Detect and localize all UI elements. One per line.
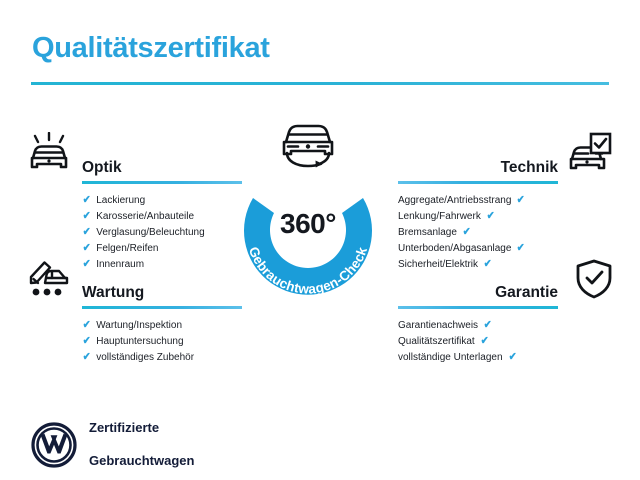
check-icon: ✔ bbox=[83, 211, 91, 222]
check-icon: ✔ bbox=[517, 195, 525, 206]
section-optik-divider bbox=[82, 181, 242, 184]
car-checkbox-icon bbox=[566, 132, 612, 174]
list-item: ✔ Garantienachweis bbox=[398, 318, 558, 334]
section-optik: Optik ✔ Lackierung ✔ Karosserie/Anbautei… bbox=[82, 145, 242, 273]
check-icon: ✔ bbox=[487, 211, 495, 222]
list-item-label: vollständiges Zubehör bbox=[96, 353, 194, 363]
list-item: ✔ Qualitätszertifikat bbox=[398, 334, 558, 350]
list-item-label: Verglasung/Beleuchtung bbox=[96, 228, 204, 238]
section-garantie-divider bbox=[398, 306, 558, 309]
footer-brand-line1: Zertifizierte bbox=[89, 420, 194, 436]
list-item-label: Aggregate/Antriebsstrang bbox=[398, 196, 511, 206]
list-item-label: Bremsanlage bbox=[398, 228, 457, 238]
list-item: ✔ Lenkung/Fahrwerk bbox=[398, 209, 558, 225]
list-item-label: Felgen/Reifen bbox=[96, 244, 158, 254]
section-technik-divider bbox=[398, 181, 558, 184]
section-wartung: Wartung ✔ Wartung/Inspektion ✔ Hauptunte… bbox=[82, 270, 242, 366]
list-item-label: vollständige Unterlagen bbox=[398, 353, 503, 363]
footer-brand-line2: Gebrauchtwagen bbox=[89, 453, 194, 469]
check-icon: ✔ bbox=[83, 259, 91, 270]
list-item: ✔ Aggregate/Antriebsstrang bbox=[398, 193, 558, 209]
check-icon: ✔ bbox=[83, 336, 91, 347]
list-item: ✔ Lackierung bbox=[82, 193, 242, 209]
badge-degrees-label: 360° bbox=[228, 208, 388, 240]
volkswagen-logo-icon bbox=[31, 422, 77, 468]
section-optik-head: Optik bbox=[82, 145, 242, 175]
quality-certificate-page: Qualitätszertifikat bbox=[0, 0, 640, 480]
list-item: ✔ vollständige Unterlagen bbox=[398, 350, 558, 366]
list-item-label: Qualitätszertifikat bbox=[398, 337, 475, 347]
list-item: ✔ Wartung/Inspektion bbox=[82, 318, 242, 334]
section-optik-title: Optik bbox=[82, 160, 122, 176]
section-technik: Technik ✔ Aggregate/Antriebsstrang ✔ Len… bbox=[398, 145, 558, 273]
section-garantie-title: Garantie bbox=[495, 285, 558, 301]
list-item: ✔ Felgen/Reifen bbox=[82, 241, 242, 257]
check-icon: ✔ bbox=[484, 259, 492, 270]
section-technik-title: Technik bbox=[501, 160, 558, 176]
list-item: ✔ Hauptuntersuchung bbox=[82, 334, 242, 350]
check-icon: ✔ bbox=[517, 243, 525, 254]
badge-360-gebrauchtwagen-check: Gebrauchtwagen-Check 360° bbox=[228, 152, 388, 312]
check-icon: ✔ bbox=[508, 352, 516, 363]
check-icon: ✔ bbox=[83, 320, 91, 331]
section-wartung-list: ✔ Wartung/Inspektion ✔ Hauptuntersuchung… bbox=[82, 318, 242, 366]
check-icon: ✔ bbox=[480, 336, 488, 347]
section-garantie-head: Garantie bbox=[398, 270, 558, 300]
section-technik-list: ✔ Aggregate/Antriebsstrang ✔ Lenkung/Fah… bbox=[398, 193, 558, 273]
footer-brand-text: Zertifizierte Gebrauchtwagen bbox=[89, 404, 194, 480]
section-garantie: Garantie ✔ Garantienachweis ✔ Qualitätsz… bbox=[398, 270, 558, 366]
car-service-pen-icon bbox=[26, 256, 72, 298]
list-item-label: Wartung/Inspektion bbox=[96, 321, 182, 331]
check-icon: ✔ bbox=[83, 352, 91, 363]
list-item-label: Hauptuntersuchung bbox=[96, 337, 183, 347]
list-item-label: Lackierung bbox=[96, 196, 145, 206]
list-item-label: Karosserie/Anbauteile bbox=[96, 212, 194, 222]
page-title: Qualitätszertifikat bbox=[32, 32, 270, 65]
list-item-label: Garantienachweis bbox=[398, 321, 478, 331]
list-item: ✔ Unterboden/Abgasanlage bbox=[398, 241, 558, 257]
list-item-label: Lenkung/Fahrwerk bbox=[398, 212, 481, 222]
list-item-label: Sicherheit/Elektrik bbox=[398, 260, 478, 270]
list-item-label: Unterboden/Abgasanlage bbox=[398, 244, 511, 254]
section-wartung-title: Wartung bbox=[82, 285, 144, 301]
section-garantie-list: ✔ Garantienachweis ✔ Qualitätszertifikat… bbox=[398, 318, 558, 366]
list-item: ✔ vollständiges Zubehör bbox=[82, 350, 242, 366]
list-item: ✔ Karosserie/Anbauteile bbox=[82, 209, 242, 225]
footer-brand-lockup: Zertifizierte Gebrauchtwagen bbox=[31, 404, 194, 480]
section-technik-head: Technik bbox=[398, 145, 558, 175]
section-optik-list: ✔ Lackierung ✔ Karosserie/Anbauteile ✔ V… bbox=[82, 193, 242, 273]
check-icon: ✔ bbox=[83, 227, 91, 238]
list-item-label: Innenraum bbox=[96, 260, 144, 270]
check-icon: ✔ bbox=[83, 243, 91, 254]
header-divider bbox=[31, 82, 609, 85]
section-wartung-divider bbox=[82, 306, 242, 309]
car-shine-icon bbox=[26, 132, 72, 174]
check-icon: ✔ bbox=[83, 195, 91, 206]
shield-check-icon bbox=[571, 258, 617, 300]
list-item: ✔ Bremsanlage bbox=[398, 225, 558, 241]
check-icon: ✔ bbox=[484, 320, 492, 331]
list-item: ✔ Verglasung/Beleuchtung bbox=[82, 225, 242, 241]
section-wartung-head: Wartung bbox=[82, 270, 242, 300]
car-front-rotate-icon bbox=[274, 120, 342, 172]
check-icon: ✔ bbox=[463, 227, 471, 238]
